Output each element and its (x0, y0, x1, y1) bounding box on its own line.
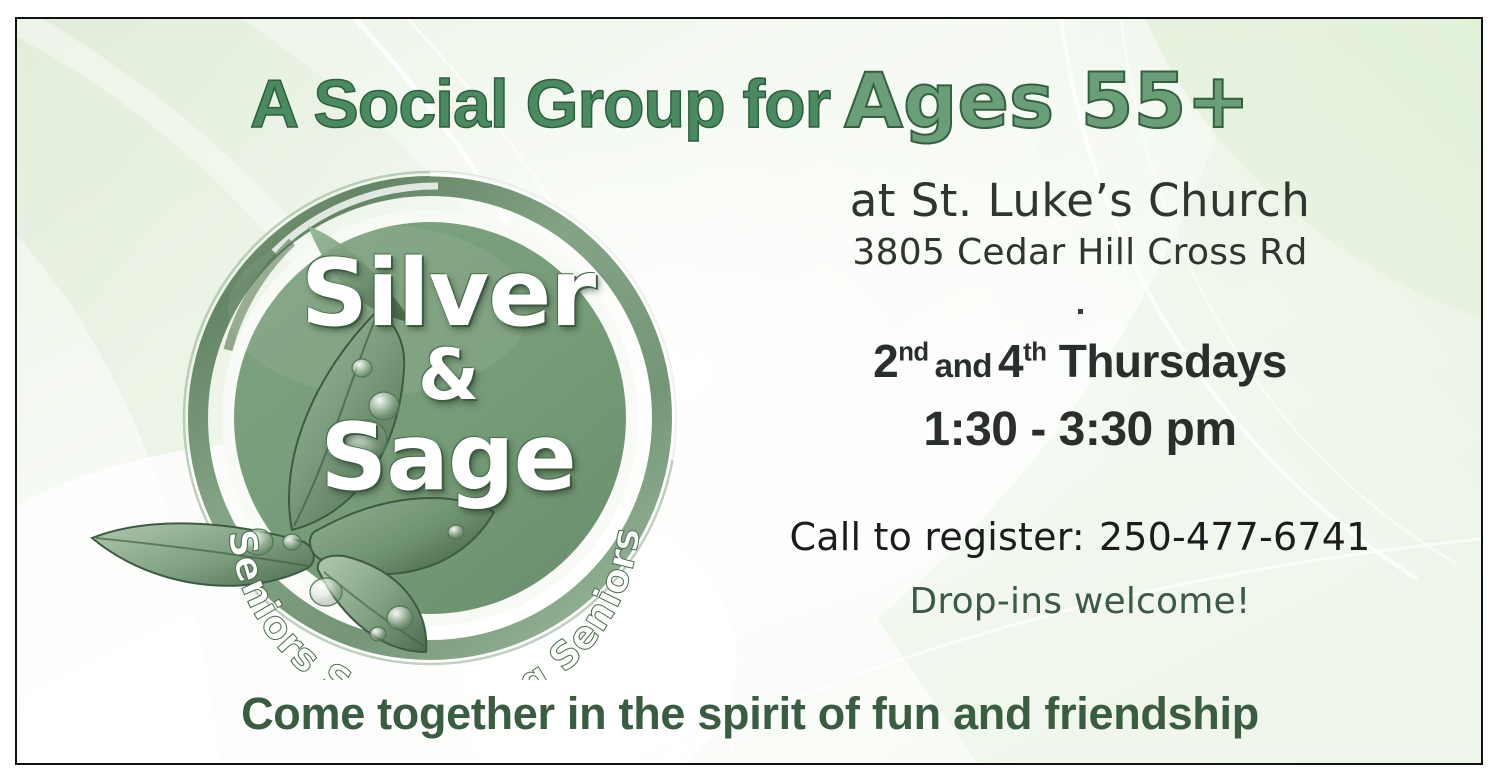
meeting-days: 2ndand4th Thursdays (760, 334, 1400, 388)
logo-badge: Seniors Supporting Seniors Silver & Sage (78, 160, 778, 680)
flyer: A Social Group forAges 55+ (0, 0, 1500, 784)
dropins-note: Drop-ins welcome! (760, 581, 1400, 622)
venue-name: at St. Luke’s Church (760, 176, 1400, 226)
info-column: at St. Luke’s Church 3805 Cedar Hill Cro… (760, 176, 1400, 622)
ordinal-second: 4 (998, 335, 1023, 387)
headline: A Social Group forAges 55+ (0, 56, 1500, 145)
headline-emphasis: Ages 55+ (844, 56, 1250, 145)
bottom-tagline: Come together in the spirit of fun and f… (0, 688, 1500, 740)
ordinal-first: 2 (873, 335, 898, 387)
venue-address: 3805 Cedar Hill Cross Rd (760, 232, 1400, 273)
ordinal-second-suffix: th (1023, 339, 1046, 367)
registration-line: Call to register:250-477-6741 (760, 515, 1400, 559)
separator-dot (1078, 309, 1083, 314)
call-label: Call to register: (790, 515, 1085, 559)
days-conjunction: and (935, 348, 992, 385)
logo-artwork: Seniors Supporting Seniors (78, 160, 778, 680)
weekday-label: Thursdays (1059, 335, 1287, 387)
ordinal-first-suffix: nd (898, 339, 928, 367)
phone-number[interactable]: 250-477-6741 (1099, 515, 1371, 559)
headline-lead: A Social Group for (250, 66, 830, 142)
meeting-time: 1:30 - 3:30 pm (760, 402, 1400, 457)
